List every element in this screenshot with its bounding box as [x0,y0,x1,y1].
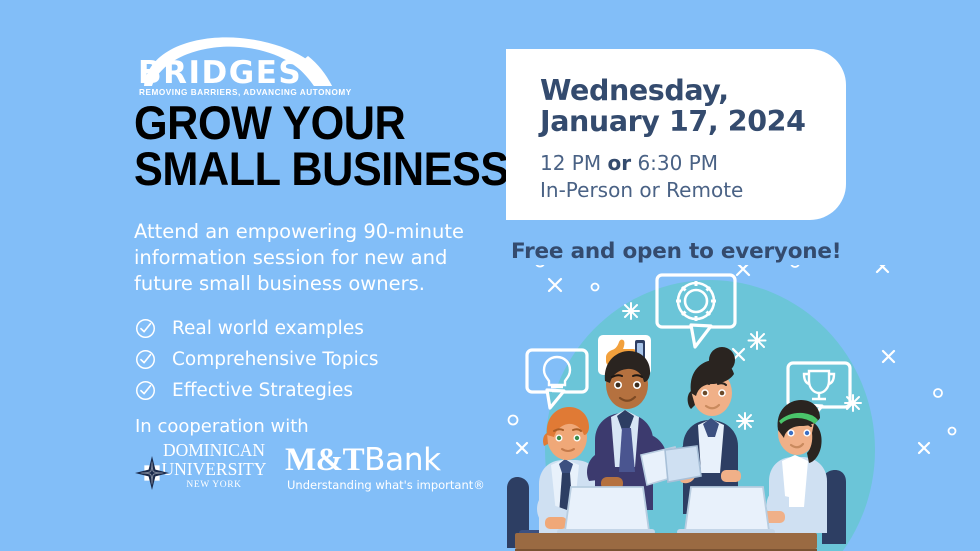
check-circle-icon [135,318,156,339]
business-meeting-illustration [505,265,980,551]
event-date-card: Wednesday, January 17, 2024 12 PM or 6:3… [506,49,846,220]
bridges-wordmark: BRIDGES [138,58,302,89]
event-times: 12 PM or 6:30 PM [540,150,840,177]
table-prop [515,533,817,551]
mt-bank-tagline: Understanding what's important® [287,478,485,492]
event-date-heading: Wednesday, January 17, 2024 [540,75,830,138]
benefit-label: Comprehensive Topics [172,349,379,370]
bridges-logo: BRIDGES REMOVING BARRIERS, ADVANCING AUT… [136,36,346,98]
partner-logos: DOMINICAN UNIVERSITY NEW YORK [135,440,465,496]
compass-rose-icon [135,456,169,490]
benefits-list: Real world examples Comprehensive Topics… [135,314,465,407]
check-circle-icon [135,380,156,401]
cooperation-label: In cooperation with [135,416,309,437]
list-item: Comprehensive Topics [135,345,465,373]
event-format: In-Person or Remote [540,177,840,204]
laptop-left [557,487,655,535]
mt-bank-word: Bank [364,442,441,478]
headline-line-2: SMALL BUSINESS [134,146,502,192]
mt-bank-logo: M&TBank Understanding what's important® [285,442,470,496]
time-conjunction: or [607,151,631,175]
time-second: 6:30 PM [631,151,718,175]
mt-bank-wordmark: M&TBank [285,442,441,479]
flyer-canvas: BRIDGES REMOVING BARRIERS, ADVANCING AUT… [0,0,980,551]
headline-line-1: GROW YOUR [134,100,502,146]
free-banner: Free and open to everyone! [511,239,841,264]
list-item: Effective Strategies [135,376,465,404]
dominican-university-logo: DOMINICAN UNIVERSITY NEW YORK [135,442,285,496]
left-content-column: BRIDGES REMOVING BARRIERS, ADVANCING AUT… [0,0,500,551]
check-circle-icon [135,349,156,370]
benefit-label: Real world examples [172,318,364,339]
list-item: Real world examples [135,314,465,342]
mt-bank-mark: M&T [285,442,364,478]
benefit-label: Effective Strategies [172,380,353,401]
event-date: January 17, 2024 [540,106,830,137]
laptop-right [677,487,775,535]
page-title: GROW YOUR SMALL BUSINESS [134,100,502,192]
time-first: 12 PM [540,151,607,175]
event-day: Wednesday, [540,75,830,106]
intro-paragraph: Attend an empowering 90-minute informati… [134,219,484,297]
